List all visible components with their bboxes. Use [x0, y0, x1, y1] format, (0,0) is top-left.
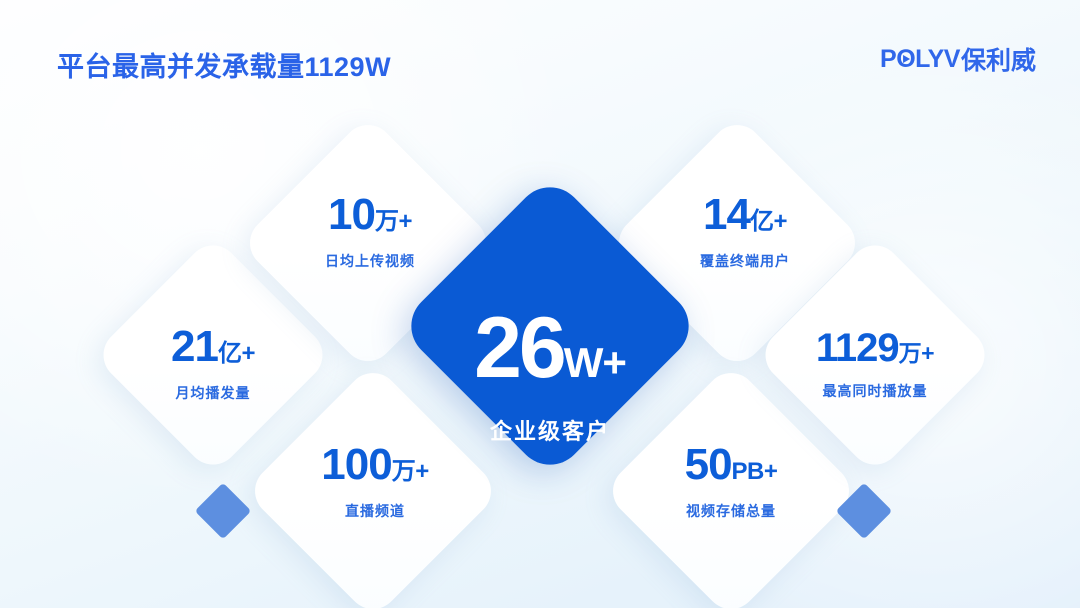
stat-top-left: 10万+ 日均上传视频 — [278, 193, 462, 268]
stat-bottom-right: 50PB+ 视频存储总量 — [636, 443, 826, 518]
stat-unit: W+ — [564, 339, 626, 386]
stat-unit: 万+ — [899, 340, 934, 366]
stat-center: 26W+ 企业级客户 — [430, 305, 670, 443]
stat-label: 日均上传视频 — [278, 254, 462, 268]
stat-unit: 万+ — [392, 458, 429, 485]
stat-top-right: 14亿+ 覆盖终端用户 — [653, 193, 837, 268]
stat-label: 月均播发量 — [123, 386, 303, 400]
stat-value: 100万+ — [280, 443, 470, 487]
brand-logo-text: P O LYV — [880, 47, 960, 72]
stat-value: 14亿+ — [653, 193, 837, 237]
stat-label: 最高同时播放量 — [778, 384, 972, 398]
stat-label: 企业级客户 — [430, 421, 670, 443]
stat-unit: 亿+ — [218, 340, 255, 367]
stat-far-left: 21亿+ 月均播发量 — [123, 325, 303, 400]
stat-value: 10万+ — [278, 193, 462, 237]
stat-unit: 亿+ — [750, 208, 787, 235]
stat-value: 26W+ — [430, 305, 670, 391]
slide-canvas: 平台最高并发承载量1129W P O LYV 保利威 21亿+ 月均播发量 10… — [0, 0, 1080, 608]
stat-unit: 万+ — [375, 208, 412, 235]
stat-value: 1129万+ — [778, 328, 972, 368]
stat-value: 21亿+ — [123, 325, 303, 369]
logo-letter-p: P — [880, 47, 896, 72]
stat-bottom-left: 100万+ 直播频道 — [280, 443, 470, 518]
stat-far-right: 1129万+ 最高同时播放量 — [778, 328, 972, 398]
decorative-diamond-left — [195, 483, 252, 540]
stat-value: 50PB+ — [636, 443, 826, 487]
stat-unit: PB+ — [732, 458, 778, 485]
stat-label: 视频存储总量 — [636, 504, 826, 518]
brand-logo: P O LYV 保利威 — [880, 44, 1036, 74]
stat-label: 覆盖终端用户 — [653, 254, 837, 268]
play-triangle-icon — [903, 55, 910, 63]
logo-letter-o: O — [896, 47, 915, 72]
stat-label: 直播频道 — [280, 504, 470, 518]
page-title: 平台最高并发承载量1129W — [57, 45, 391, 84]
logo-letters-lyv: LYV — [915, 47, 960, 72]
brand-logo-cn: 保利威 — [961, 41, 1036, 77]
